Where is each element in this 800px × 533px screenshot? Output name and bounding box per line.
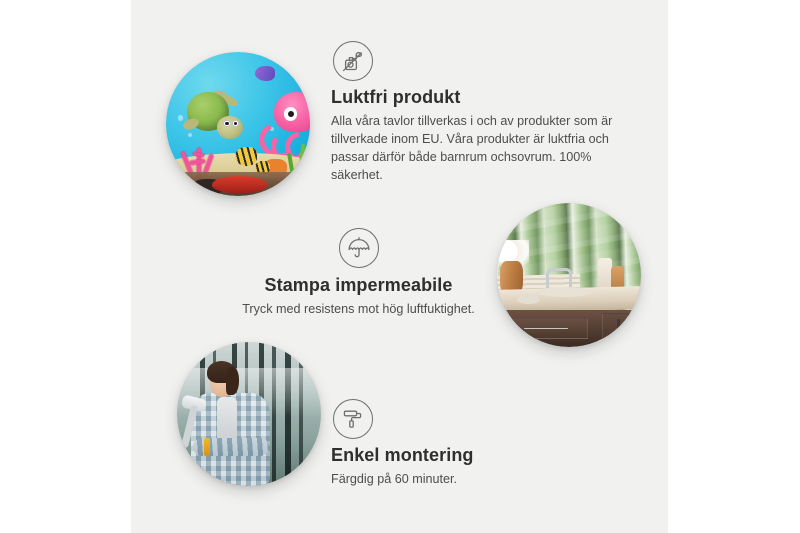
purple-fish (255, 66, 275, 80)
feature-description: Alla våra tavlor tillverkas i och av pro… (331, 113, 629, 185)
faucet (546, 268, 572, 288)
sea-turtle (183, 91, 246, 146)
product-photo-ocean (166, 52, 310, 196)
feature-title: Stampa impermeabile (186, 275, 531, 296)
feature-description: Tryck med resistens mot hög luftfuktighe… (186, 301, 531, 319)
feature-waterproof: Stampa impermeabile Tryck med resistens … (186, 228, 531, 319)
no-odour-spray-bottle-icon (333, 41, 373, 81)
content-panel: Luktfri produkt Alla våra tavlor tillver… (131, 0, 668, 533)
sink-basin (537, 287, 592, 297)
feature-odorless: Luktfri produkt Alla våra tavlor tillver… (331, 41, 629, 185)
feature-description: Färgdig på 60 minuter. (331, 471, 631, 489)
photo-lower-strip (212, 176, 267, 193)
product-feature-banner: Luktfri produkt Alla våra tavlor tillver… (0, 0, 800, 533)
feature-easy-mounting: Enkel montering Färgdig på 60 minuter. (331, 399, 631, 489)
woman-with-paint-roller (186, 359, 278, 486)
feature-title: Enkel montering (331, 445, 631, 466)
umbrella-icon (339, 228, 379, 268)
product-photo-painter (177, 342, 321, 486)
paint-roller-icon (333, 399, 373, 439)
striped-fish (235, 147, 257, 166)
feature-title: Luktfri produkt (331, 87, 629, 108)
